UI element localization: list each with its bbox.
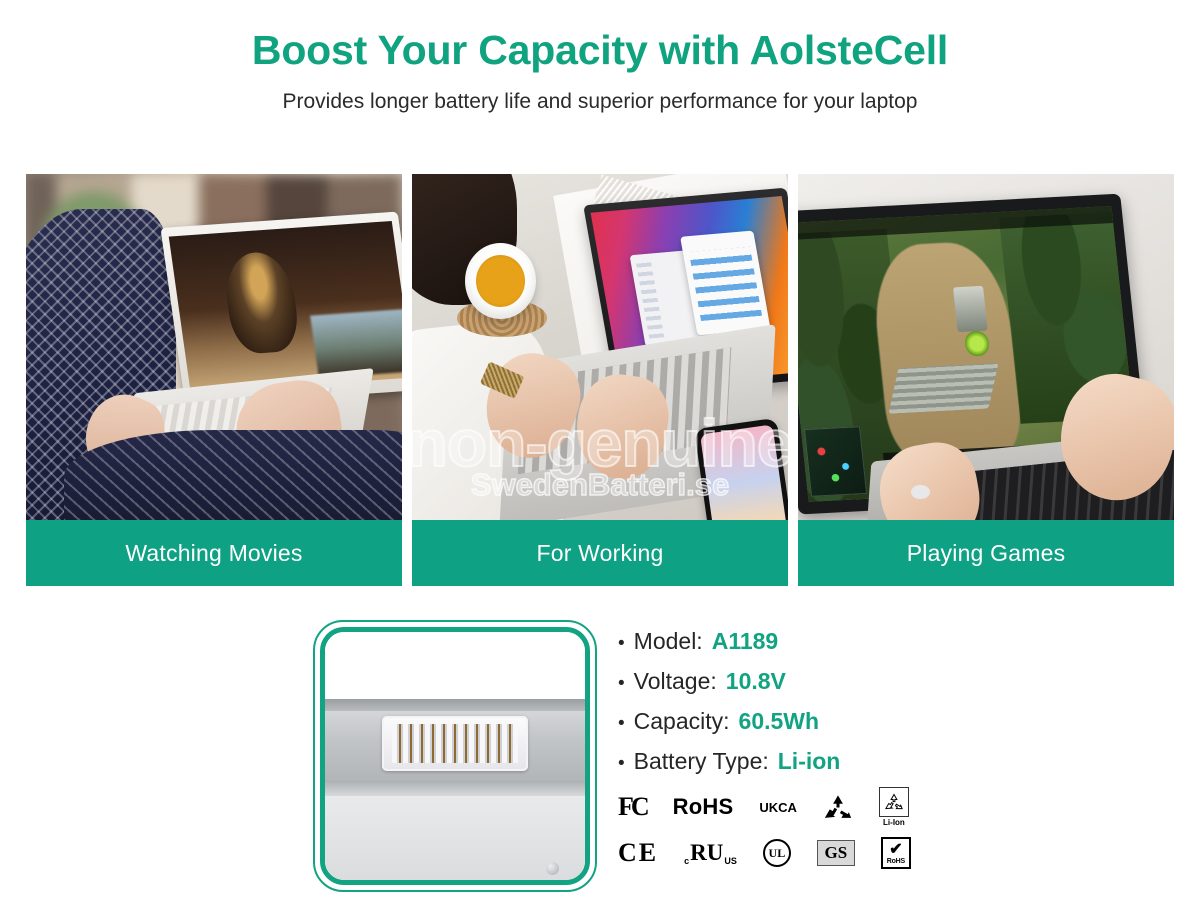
gs-icon: GS	[817, 840, 855, 866]
rohs-check-label: RoHS	[887, 858, 905, 865]
bullet-icon: •	[618, 754, 625, 773]
card-caption: For Working	[412, 520, 788, 586]
liion-label: Li-Ion	[883, 818, 905, 827]
bullet-icon: •	[618, 714, 625, 733]
ul-icon: UL	[763, 839, 791, 867]
photo-playing-games	[798, 174, 1174, 520]
photo-watching-movies	[26, 174, 402, 520]
recycle-icon	[823, 794, 853, 821]
gs-box: GS	[817, 840, 855, 866]
use-case-card-watching-movies: Watching Movies	[26, 174, 402, 586]
spec-battery-type: • Battery Type: Li-ion	[618, 750, 1038, 773]
certification-row-1: FC RoHS UK CA	[618, 784, 918, 830]
battery-connector-photo	[325, 632, 585, 880]
ul-circle: UL	[763, 839, 791, 867]
spec-value: 60.5Wh	[739, 710, 820, 733]
spec-label: Model:	[634, 630, 703, 653]
cul-us-main: RU	[690, 840, 723, 866]
spec-label: Voltage:	[634, 670, 717, 693]
cul-us-suffix: US	[724, 856, 737, 866]
liion-recycle-icon: Li-Ion	[879, 787, 909, 827]
card-caption: Playing Games	[798, 520, 1174, 586]
ce-icon: CE	[618, 838, 658, 868]
certification-row-2: CE c RU US UL GS ✔ RoHS	[618, 830, 918, 876]
bullet-icon: •	[618, 674, 625, 693]
checkmark-icon: ✔	[889, 842, 902, 858]
card-caption: Watching Movies	[26, 520, 402, 586]
use-case-card-playing-games: Playing Games	[798, 174, 1174, 586]
spec-label: Battery Type:	[634, 750, 769, 773]
ukca-icon: UK CA	[759, 801, 797, 814]
product-details-section: • Model: A1189 • Voltage: 10.8V • Capaci…	[0, 612, 1200, 900]
cul-us-icon: c RU US	[684, 840, 737, 866]
cul-us-prefix: c	[684, 856, 689, 866]
spec-list: • Model: A1189 • Voltage: 10.8V • Capaci…	[618, 630, 1038, 790]
photo-for-working	[412, 174, 788, 520]
product-infographic: Boost Your Capacity with AolsteCell Prov…	[0, 0, 1200, 900]
fcc-icon: FC	[618, 792, 647, 822]
header: Boost Your Capacity with AolsteCell Prov…	[0, 0, 1200, 114]
rohs-check-icon: ✔ RoHS	[881, 837, 911, 869]
rohs-icon: RoHS	[673, 794, 734, 820]
liion-recycle-box	[879, 787, 909, 817]
ukca-line-2: CA	[778, 801, 797, 814]
spec-label: Capacity:	[634, 710, 730, 733]
use-case-cards: Watching Movies For Working	[26, 174, 1174, 586]
spec-value: 10.8V	[726, 670, 786, 693]
spec-value: A1189	[712, 630, 779, 653]
page-title: Boost Your Capacity with AolsteCell	[0, 28, 1200, 74]
spec-voltage: • Voltage: 10.8V	[618, 670, 1038, 693]
ukca-line-1: UK	[759, 801, 778, 814]
certification-icons: FC RoHS UK CA	[618, 784, 918, 876]
use-case-card-for-working: For Working	[412, 174, 788, 586]
bullet-icon: •	[618, 634, 625, 653]
spec-value: Li-ion	[778, 750, 841, 773]
battery-photo-frame	[313, 620, 597, 892]
spec-model: • Model: A1189	[618, 630, 1038, 653]
spec-capacity: • Capacity: 60.5Wh	[618, 710, 1038, 733]
page-subtitle: Provides longer battery life and superio…	[0, 90, 1200, 114]
